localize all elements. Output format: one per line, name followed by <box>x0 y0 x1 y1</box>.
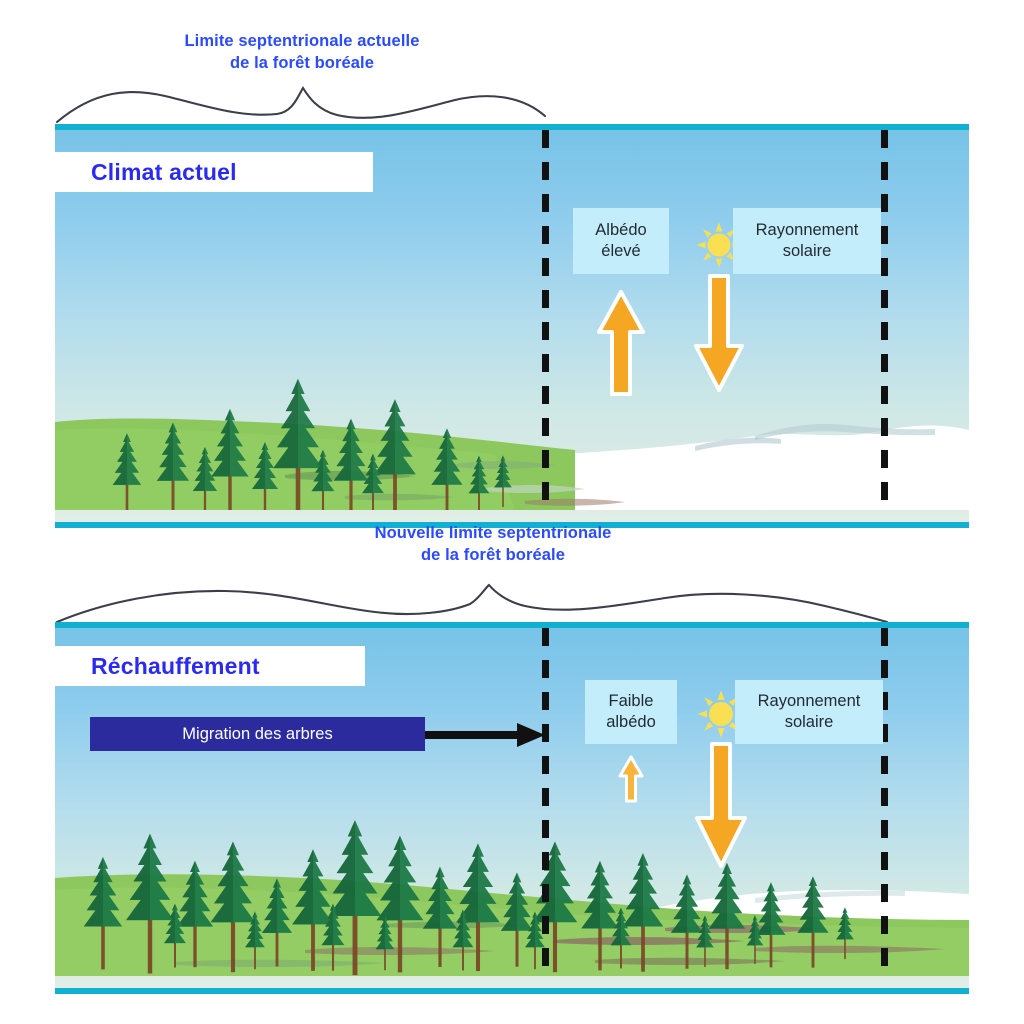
albedo-box-text: Faible albédo <box>606 691 656 734</box>
panel-label-current: Climat actuel <box>55 152 373 192</box>
solar-box-current: Rayonnement solaire <box>733 208 881 274</box>
forest-limit-wave-bottom <box>55 582 893 624</box>
diagram-root: Limite septentrionale actuelle de la for… <box>0 0 1024 1024</box>
solar-box-warming: Rayonnement solaire <box>735 680 883 744</box>
albedo-up-arrow-warming <box>617 754 645 804</box>
panel-label-text: Climat actuel <box>91 159 237 186</box>
panel-label-warming: Réchauffement <box>55 646 365 686</box>
solar-box-text: Rayonnement solaire <box>758 691 861 734</box>
albedo-up-arrow-current <box>595 288 647 400</box>
scene-warming: Réchauffement Migration des arbres Faibl… <box>55 628 969 988</box>
panel-warming: Réchauffement Migration des arbres Faibl… <box>55 622 969 994</box>
migration-bar: Migration des arbres <box>90 717 425 751</box>
solar-down-arrow-warming <box>692 740 750 870</box>
panel-label-text: Réchauffement <box>91 653 260 680</box>
guide-line-tundra-edge <box>881 130 888 510</box>
albedo-box-current: Albédo élevé <box>573 208 669 274</box>
migration-bar-text: Migration des arbres <box>182 725 332 744</box>
forest-limit-wave-top <box>55 82 555 124</box>
guide-line-forest-limit <box>542 130 549 510</box>
panel-current-climate: Climat actuel Albédo élevé <box>55 124 969 528</box>
caption-current-limit: Limite septentrionale actuelle de la for… <box>162 31 442 75</box>
migration-arrow <box>425 722 547 748</box>
guide-line-forest-limit-warming <box>542 628 549 976</box>
solar-down-arrow-current <box>691 272 747 394</box>
albedo-box-text: Albédo élevé <box>595 220 646 263</box>
scene-current: Climat actuel Albédo élevé <box>55 130 969 522</box>
caption-new-limit: Nouvelle limite septentrionale de la for… <box>343 523 643 567</box>
solar-box-text: Rayonnement solaire <box>756 220 859 263</box>
albedo-box-warming: Faible albédo <box>585 680 677 744</box>
